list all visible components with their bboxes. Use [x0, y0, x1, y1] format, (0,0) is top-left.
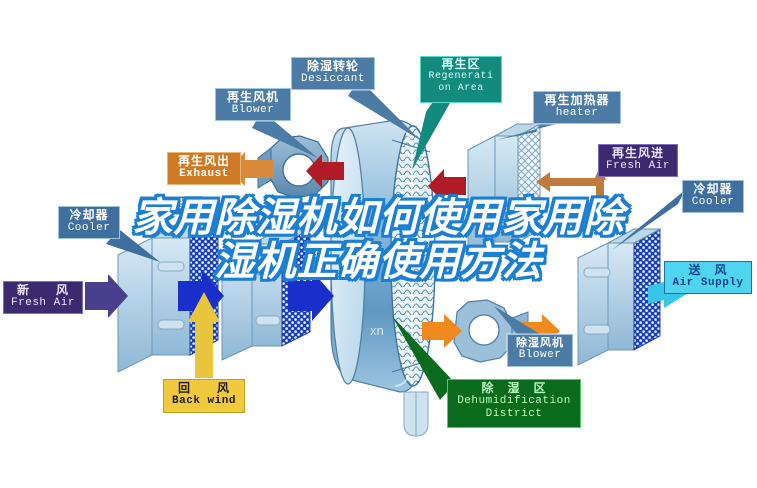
label-cooler-right-en: Cooler [683, 196, 743, 208]
label-dehumidification-district-en1: Dehumidification [448, 395, 580, 407]
label-dehumidification-district-cn: 除 湿 区 [448, 382, 580, 395]
label-dehumidification-blower-cn: 除湿风机 [508, 337, 572, 349]
svg-text:xn: xn [370, 323, 384, 338]
label-fresh-air-in-cn: 新 风 [4, 284, 82, 297]
label-regeneration-area-en2: on Area [421, 83, 501, 94]
label-air-supply-cn: 送 风 [665, 264, 751, 277]
regen-hot-air-arrow-2 [428, 169, 466, 203]
label-desiccant-wheel-en: Desiccant [292, 73, 374, 85]
label-fresh-air-in: 新 风 Fresh Air [3, 281, 83, 314]
label-regeneration-area: 再生区 Regenerati on Area [420, 56, 502, 103]
label-exhaust: 再生风出 Exhaust [167, 152, 241, 185]
after-cooler-block [578, 229, 660, 365]
condensate-drain [404, 392, 428, 436]
label-cooler-right-cn: 冷却器 [683, 183, 743, 196]
diagram-canvas: xn [0, 0, 757, 488]
label-regeneration-blower-cn: 再生风机 [216, 91, 290, 104]
label-cooler-left-second: 冷却器 [140, 196, 202, 215]
label-cooler-left-second-cn: 冷却器 [141, 198, 201, 210]
label-cooler-right: 冷却器 Cooler [682, 180, 744, 213]
regeneration-heater-coil [468, 124, 540, 256]
label-back-wind: 回 风 Back wind [163, 379, 245, 413]
label-regeneration-blower: 再生风机 Blower [215, 88, 291, 121]
regen-intake-arrow [536, 166, 606, 226]
label-cooler-left-upper-en: Cooler [59, 222, 119, 234]
label-regen-fresh-air-in-cn: 再生风进 [599, 147, 677, 160]
label-regeneration-heater-en: heater [534, 107, 620, 119]
label-dehumidification-blower: 除湿风机 Blower [507, 334, 573, 367]
dehumidifier-schematic: xn [0, 0, 757, 488]
label-regeneration-heater-cn: 再生加热器 [534, 94, 620, 107]
label-desiccant-wheel-cn: 除湿转轮 [292, 60, 374, 73]
label-air-supply: 送 风 Air Supply [664, 261, 752, 294]
label-desiccant-wheel: 除湿转轮 Desiccant [291, 57, 375, 90]
label-back-wind-en: Back wind [164, 395, 244, 407]
label-back-wind-cn: 回 风 [164, 382, 244, 395]
label-regeneration-blower-en: Blower [216, 104, 290, 116]
label-regen-fresh-air-in: 再生风进 Fresh Air [598, 144, 678, 177]
label-regeneration-area-cn: 再生区 [421, 58, 501, 71]
label-fresh-air-in-en: Fresh Air [4, 297, 82, 309]
label-dehumidification-blower-en: Blower [508, 349, 572, 361]
label-regeneration-area-en1: Regenerati [421, 71, 501, 82]
label-regeneration-heater: 再生加热器 heater [533, 91, 621, 124]
label-dehumidification-district-en2: District [448, 408, 580, 420]
label-cooler-left-upper-cn: 冷却器 [59, 209, 119, 222]
label-exhaust-cn: 再生风出 [168, 155, 240, 168]
label-air-supply-en: Air Supply [665, 277, 751, 289]
label-dehumidification-district: 除 湿 区 Dehumidification District [447, 379, 581, 428]
label-exhaust-en: Exhaust [168, 168, 240, 180]
label-regen-fresh-air-in-en: Fresh Air [599, 160, 677, 172]
label-cooler-left-upper: 冷却器 Cooler [58, 206, 120, 239]
